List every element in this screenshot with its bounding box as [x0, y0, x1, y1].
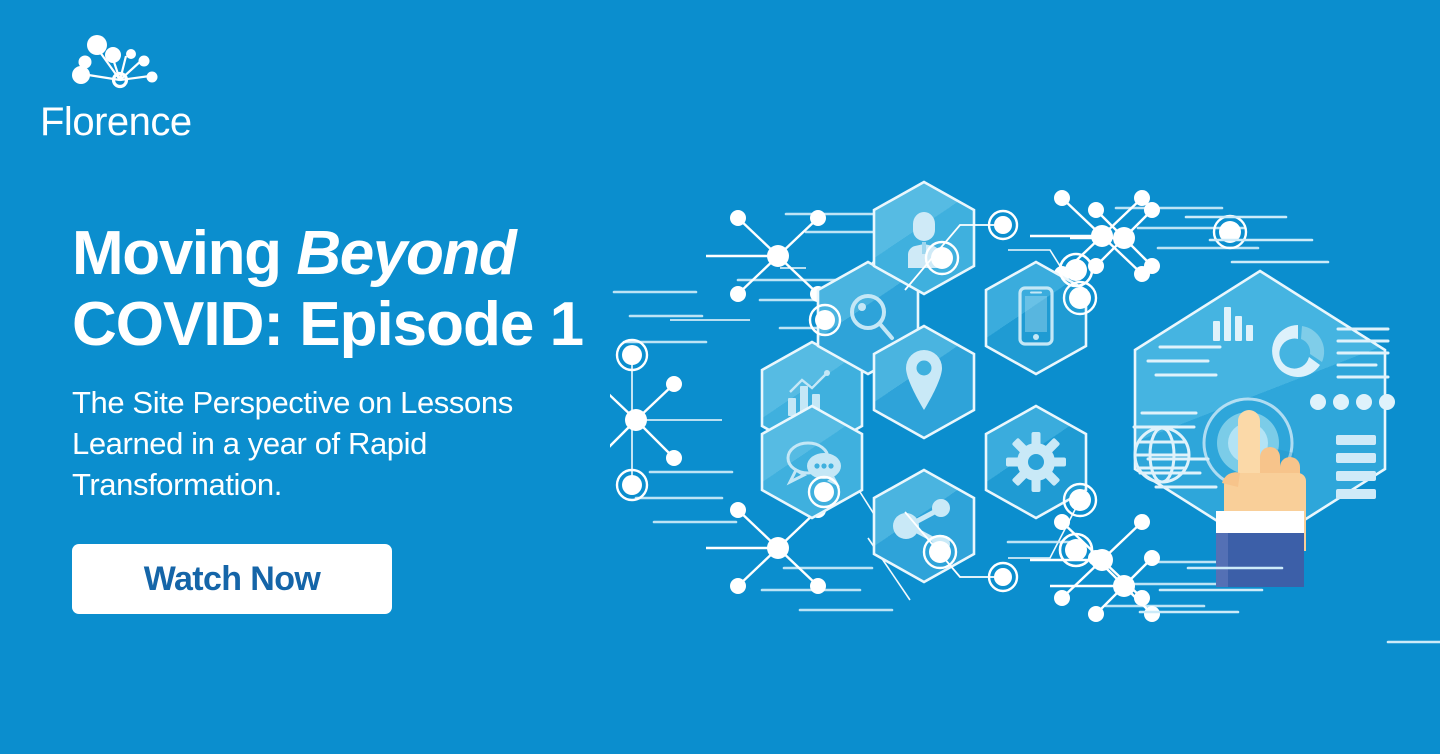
headline-part-1: Moving [72, 219, 296, 288]
brand-logo[interactable]: Florence [40, 28, 270, 128]
headline-emphasis: Beyond [296, 219, 515, 288]
hero-subheading: The Site Perspective on Lessons Learned … [72, 382, 572, 505]
hero-illustration [610, 170, 1440, 630]
brand-wordmark: Florence [40, 102, 192, 142]
hex-tile-mobile [986, 262, 1086, 374]
gear-icon [1006, 432, 1066, 492]
page-title: Moving Beyond [72, 218, 672, 290]
hex-tile-share [874, 470, 974, 582]
promo-banner: Florence Moving Beyond COVID: Episode 1 … [0, 0, 1440, 754]
dashboard-hexagon [1134, 271, 1395, 587]
network-node-dandelion-icon [64, 28, 174, 90]
watch-now-button[interactable]: Watch Now [72, 544, 392, 614]
page-title-line-2: COVID: Episode 1 [72, 290, 672, 360]
hero-copy: Moving Beyond COVID: Episode 1 The Site … [72, 218, 672, 505]
